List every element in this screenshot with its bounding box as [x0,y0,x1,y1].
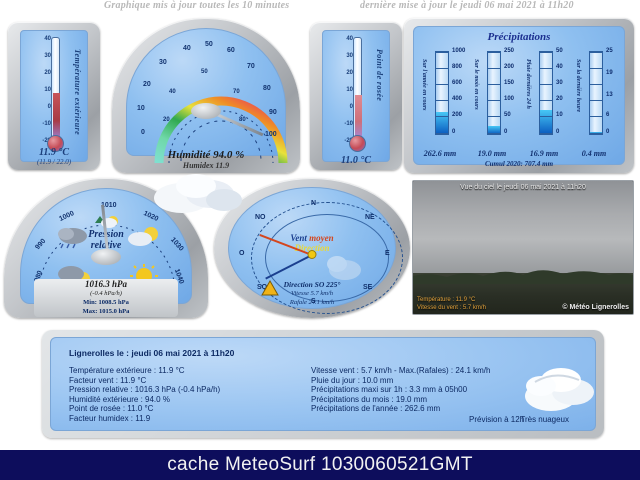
precip-gauge-month: Sur le mois en cours 250 200 150 100 50 … [474,51,522,147]
wind-speed-value: Vitesse 5.7 km/h [229,289,395,298]
wind-compass-hub [308,250,317,259]
barometer-readout: 1016.3 hPa (-0.4 hPa/h) Min: 1008.5 hPa … [34,279,178,317]
forecast-text: Très nuageux [520,415,569,424]
webcam-overlay-temperature: Température : 11.9 °C [417,297,486,305]
outside-temperature-tube [51,37,60,141]
dew-point-screen: 40 30 20 10 0 -10 -20 Point de rosée [322,30,390,162]
summary-line-wind: Vitesse vent : 5.7 km/h - Max.(Rafales) … [311,366,490,376]
precip-gauge-24h: Pluie dernières 24 h 50 40 30 20 10 0 [526,51,574,147]
summary-line-humidex: Facteur humidex : 11.9 [69,414,220,424]
summary-line-rain-max-1h: Précipitations maxi sur 1h : 3.3 mm à 05… [311,385,490,395]
webcam-header: Vue du ciel le jeudi 06 mai 2021 à 11h20 [413,184,633,191]
precip-gauge-hour-tube [589,51,603,135]
summary-line-rain-month: Précipitations du mois : 19.0 mm [311,395,490,405]
precip-gauge-year-tube [435,51,449,135]
outside-temperature-minmax: (11.9 / 22.0) [8,158,100,166]
barometer-hub [91,249,121,265]
precip-gauge-24h-scale: 50 40 30 20 10 0 [556,47,576,139]
compass-cloud-decor [325,246,365,284]
summary-info-panel[interactable]: Lignerolles le : jeudi 06 mai 2021 à 11h… [42,330,604,438]
precip-gauge-24h-fill [540,110,552,134]
humidity-gauge[interactable]: 0 10 20 30 40 50 60 70 80 90 100 20 40 5… [112,18,300,173]
humidity-screen: 0 10 20 30 40 50 60 70 80 90 100 20 40 5… [126,28,286,156]
precip-gauge-hour-value: 0.4 mm [566,149,622,158]
precip-gauge-24h-value: 16.9 mm [516,149,572,158]
outside-temperature-readout: 11.9 °C (11.9 / 22.0) [8,147,100,166]
humidity-readout: Humidité 94.0 % Humidex 11.9 [112,149,300,170]
precipitation-screen: Précipitations Sur l'année en cours 1000… [413,26,625,165]
dew-point-value: 11.0 °C [341,155,371,166]
webcam-treeline [413,260,634,284]
summary-location-datetime: Lignerolles le : jeudi 06 mai 2021 à 11h… [69,348,234,358]
barometer-max: Max: 1015.0 hPa [34,307,178,316]
summary-left-column: Température extérieure : 11.9 °C Facteur… [69,366,220,424]
barometer-value: 1016.3 hPa [85,279,127,289]
footer-cache-text: cache MeteoSurf 1030060521GMT [167,454,473,476]
humidity-hub [191,103,221,119]
dew-point-tube [353,37,362,141]
dew-point-ticks: 40 30 20 10 0 -10 -20 [333,35,353,143]
precip-gauge-month-value: 19.0 mm [464,149,520,158]
precip-gauge-hour-label: Sur la dernière heure [575,59,581,112]
dew-point-readout: 11.0 °C [310,155,402,166]
webcam-copyright: © Météo Lignerolles [562,304,629,311]
precip-gauge-month-scale: 250 200 150 100 50 0 [504,47,524,139]
summary-right-column: Vitesse vent : 5.7 km/h - Max.(Rafales) … [311,366,490,414]
barometer-min: Min: 1008.5 hPa [34,298,178,307]
precip-gauge-24h-label: Pluie dernières 24 h [525,59,531,109]
outside-temperature-ticks: 40 30 20 10 0 -10 -20 [31,35,51,143]
dew-point-gauge[interactable]: 40 30 20 10 0 -10 -20 Point de rosée 11.… [310,22,402,170]
cloud-sun-top-icon [93,213,123,229]
webcam-overlay-wind: Vitesse du vent : 5.7 km/h [417,305,486,313]
precip-gauge-year: Sur l'année en cours 1000 800 600 400 20… [422,51,470,147]
page-header: Graphique mis à jour toutes les 10 minut… [0,0,640,13]
summary-line-dewpoint: Point de rosée : 11.0 °C [69,404,220,414]
wind-readout: Direction SO 225° Vitesse 5.7 km/h Rafal… [229,280,395,307]
precip-gauge-year-value: 262.6 mm [412,149,468,158]
precip-gauge-hour: Sur la dernière heure 25 19 13 6 0 [576,51,624,147]
outside-temperature-value: 11.9 °C [39,147,69,158]
summary-line-humidity: Humidité extérieure : 94.0 % [69,395,220,405]
barometer-trend: (-0.4 hPa/h) [34,289,178,298]
header-update-interval: Graphique mis à jour toutes les 10 minut… [104,0,289,11]
summary-info-screen: Lignerolles le : jeudi 06 mai 2021 à 11h… [50,337,596,431]
humidity-value: Humidité 94.0 % [168,149,245,161]
precip-gauge-24h-tube [539,51,553,135]
precip-gauge-month-label: Sur le mois en cours [473,59,479,110]
summary-line-rain-year: Précipitations de l'année : 262.6 mm [311,404,490,414]
forecast-label: Prévision à 12h [469,415,524,424]
wind-gust-value: Rafale 24.1 km/h [229,298,395,307]
summary-line-pressure: Pression relative : 1016.3 hPa (-0.4 hPa… [69,385,220,395]
forecast-cloud-icon [521,356,597,414]
wind-direction-value: Direction SO 225° [229,280,395,289]
precip-gauge-month-tube [487,51,501,135]
outside-temperature-label: Température extérieure [73,49,82,135]
wind-compass-screen: N NE E SE S SO O NO Vent moyen Direction… [228,187,396,309]
header-last-update: dernière mise à jour le jeudi 06 mai 202… [360,0,574,11]
summary-line-temperature: Température extérieure : 11.9 °C [69,366,220,376]
summary-line-windchill: Facteur vent : 11.9 °C [69,376,220,386]
precip-gauge-year-scale: 1000 800 600 400 200 0 [452,47,472,139]
webcam-panel[interactable]: Vue du ciel le jeudi 06 mai 2021 à 11h20… [412,180,634,315]
precipitation-title: Précipitations [414,31,624,43]
dew-point-mercury [355,95,362,139]
outside-temperature-gauge[interactable]: 40 30 20 10 0 -10 -20 Température extéri… [8,22,100,170]
dew-point-bulb [349,135,366,152]
dew-point-label: Point de rosée [375,49,384,101]
outside-temperature-screen: 40 30 20 10 0 -10 -20 Température extéri… [20,30,88,162]
precipitation-cumul: Cumul 2020: 707.4 mm [414,160,624,168]
summary-line-rain-today: Pluie du jour : 10.0 mm [311,376,490,386]
decorative-cloud-icon [152,168,248,214]
precip-gauge-year-label: Sur l'année en cours [421,59,427,111]
webcam-overlay: Température : 11.9 °C Vitesse du vent : … [417,297,486,312]
outside-temperature-mercury [53,93,60,139]
precip-gauge-hour-scale: 25 19 13 6 0 [606,47,626,139]
footer-bar: cache MeteoSurf 1030060521GMT [0,450,640,480]
precipitation-panel[interactable]: Précipitations Sur l'année en cours 1000… [404,18,634,173]
